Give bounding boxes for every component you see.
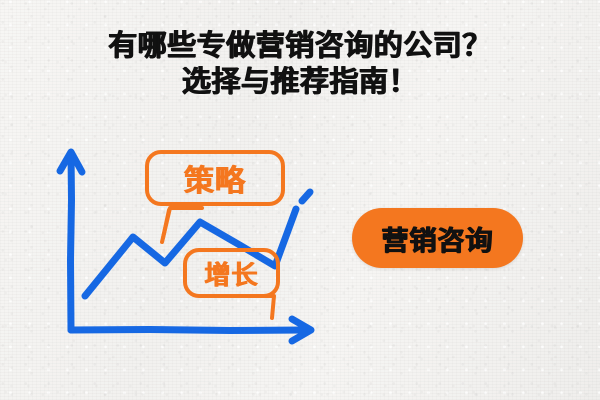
y-axis-line bbox=[71, 153, 72, 330]
title-line-1: 有哪些专做营销咨询的公司？ bbox=[0, 28, 600, 64]
title-line-2: 选择与推荐指南！ bbox=[0, 64, 600, 100]
marketing-consulting-badge[interactable]: 营销咨询 bbox=[352, 208, 523, 268]
marketing-consulting-badge-label: 营销咨询 bbox=[382, 219, 494, 258]
speech-bubble-strategy-tail bbox=[150, 198, 220, 246]
speech-bubble-growth-label: 增长 bbox=[204, 255, 258, 292]
poster-canvas: 有哪些专做营销咨询的公司？ 选择与推荐指南！ 策略 增长 bbox=[0, 0, 600, 400]
chart-trend-dash bbox=[302, 192, 310, 201]
speech-bubble-growth-tail bbox=[232, 290, 292, 324]
x-axis-line bbox=[71, 330, 303, 331]
page-title: 有哪些专做营销咨询的公司？ 选择与推荐指南！ bbox=[0, 28, 600, 100]
speech-bubble-strategy-label: 策略 bbox=[184, 156, 246, 200]
